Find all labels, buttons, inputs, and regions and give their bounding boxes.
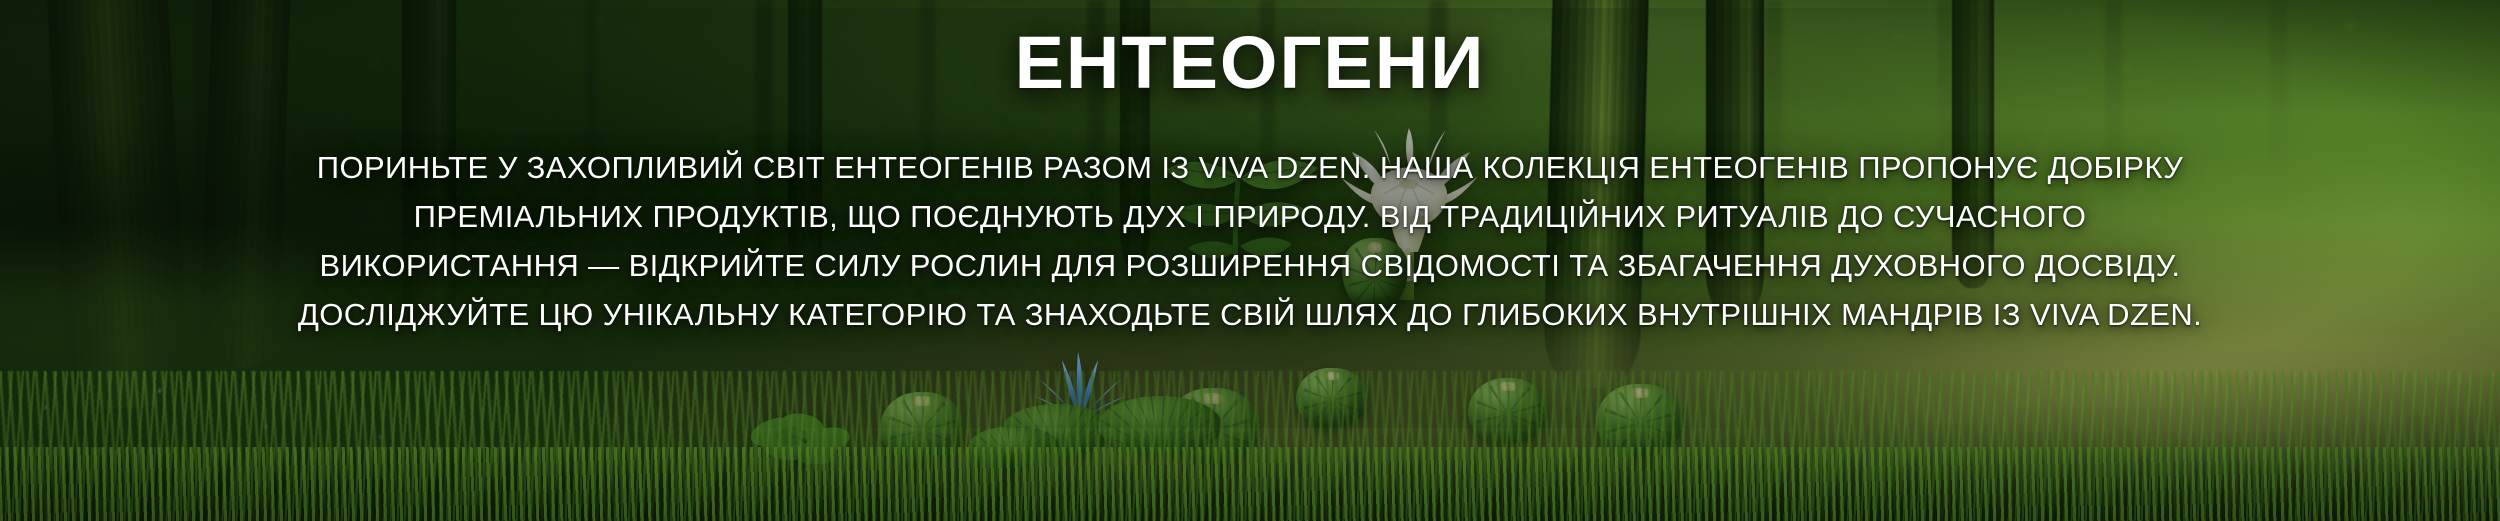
description-line: ПОРИНЬТЕ У ЗАХОПЛИВИЙ СВІТ ЕНТЕОГЕНІВ РА… [170,144,2330,193]
page-title: ЕНТЕОГЕНИ [1015,26,1486,100]
banner-content: ЕНТЕОГЕНИ ПОРИНЬТЕ У ЗАХОПЛИВИЙ СВІТ ЕНТ… [0,0,2500,521]
description-line: ПРЕМІАЛЬНИХ ПРОДУКТІВ, ЩО ПОЄДНУЮТЬ ДУХ … [170,193,2330,242]
banner-description: ПОРИНЬТЕ У ЗАХОПЛИВИЙ СВІТ ЕНТЕОГЕНІВ РА… [170,144,2330,340]
entheogens-hero-banner: ЕНТЕОГЕНИ ПОРИНЬТЕ У ЗАХОПЛИВИЙ СВІТ ЕНТ… [0,0,2500,521]
description-line: ДОСЛІДЖУЙТЕ ЦЮ УНІКАЛЬНУ КАТЕГОРІЮ ТА ЗН… [170,291,2330,340]
description-line: ВИКОРИСТАННЯ — ВІДКРИЙТЕ СИЛУ РОСЛИН ДЛЯ… [170,242,2330,291]
